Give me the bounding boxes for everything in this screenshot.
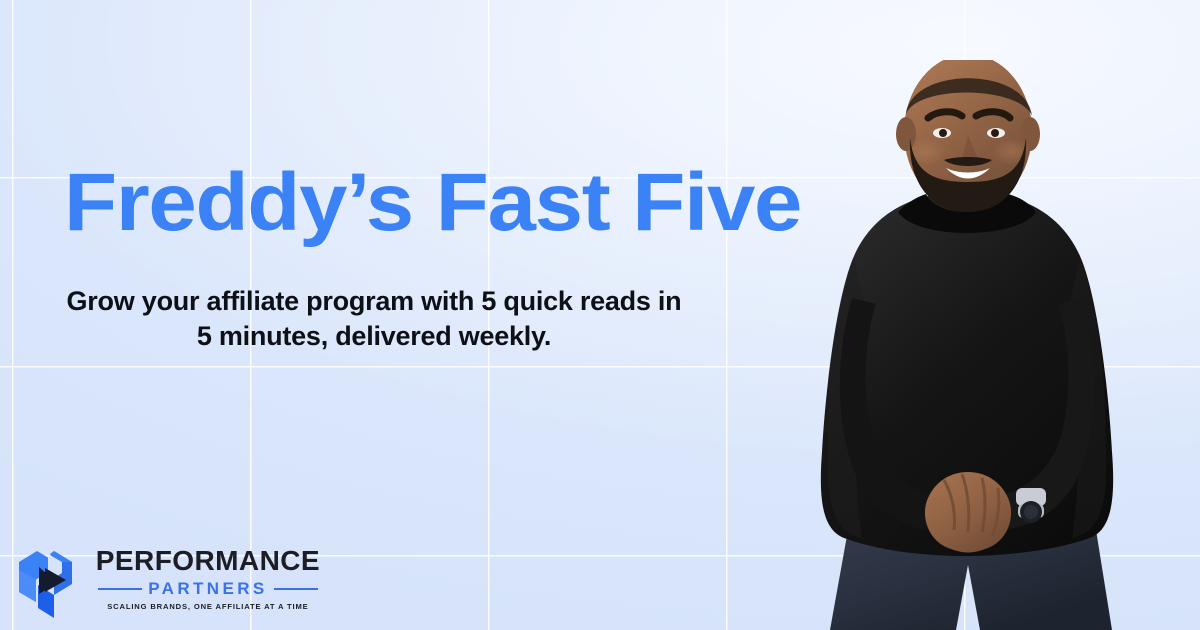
- logo-primary-text: PERFORMANCE: [96, 547, 320, 575]
- brand-logo[interactable]: PERFORMANCE PARTNERS SCALING BRANDS, ONE…: [16, 540, 318, 618]
- logo-rule-left: [98, 588, 142, 591]
- logo-rule-right: [274, 588, 318, 591]
- logo-tagline: SCALING BRANDS, ONE AFFILIATE AT A TIME: [107, 603, 308, 611]
- logo-wordmark: PERFORMANCE PARTNERS SCALING BRANDS, ONE…: [98, 547, 318, 611]
- portrait-photo: [730, 60, 1200, 630]
- logo-secondary-text: PARTNERS: [148, 580, 267, 597]
- page-title: Freddy’s Fast Five: [64, 162, 801, 244]
- newsletter-hero-banner: Freddy’s Fast Five Grow your affiliate p…: [0, 0, 1200, 630]
- performance-partners-mark-icon: [16, 540, 86, 618]
- logo-secondary-row: PARTNERS: [98, 580, 318, 597]
- subheadline: Grow your affiliate program with 5 quick…: [64, 284, 684, 353]
